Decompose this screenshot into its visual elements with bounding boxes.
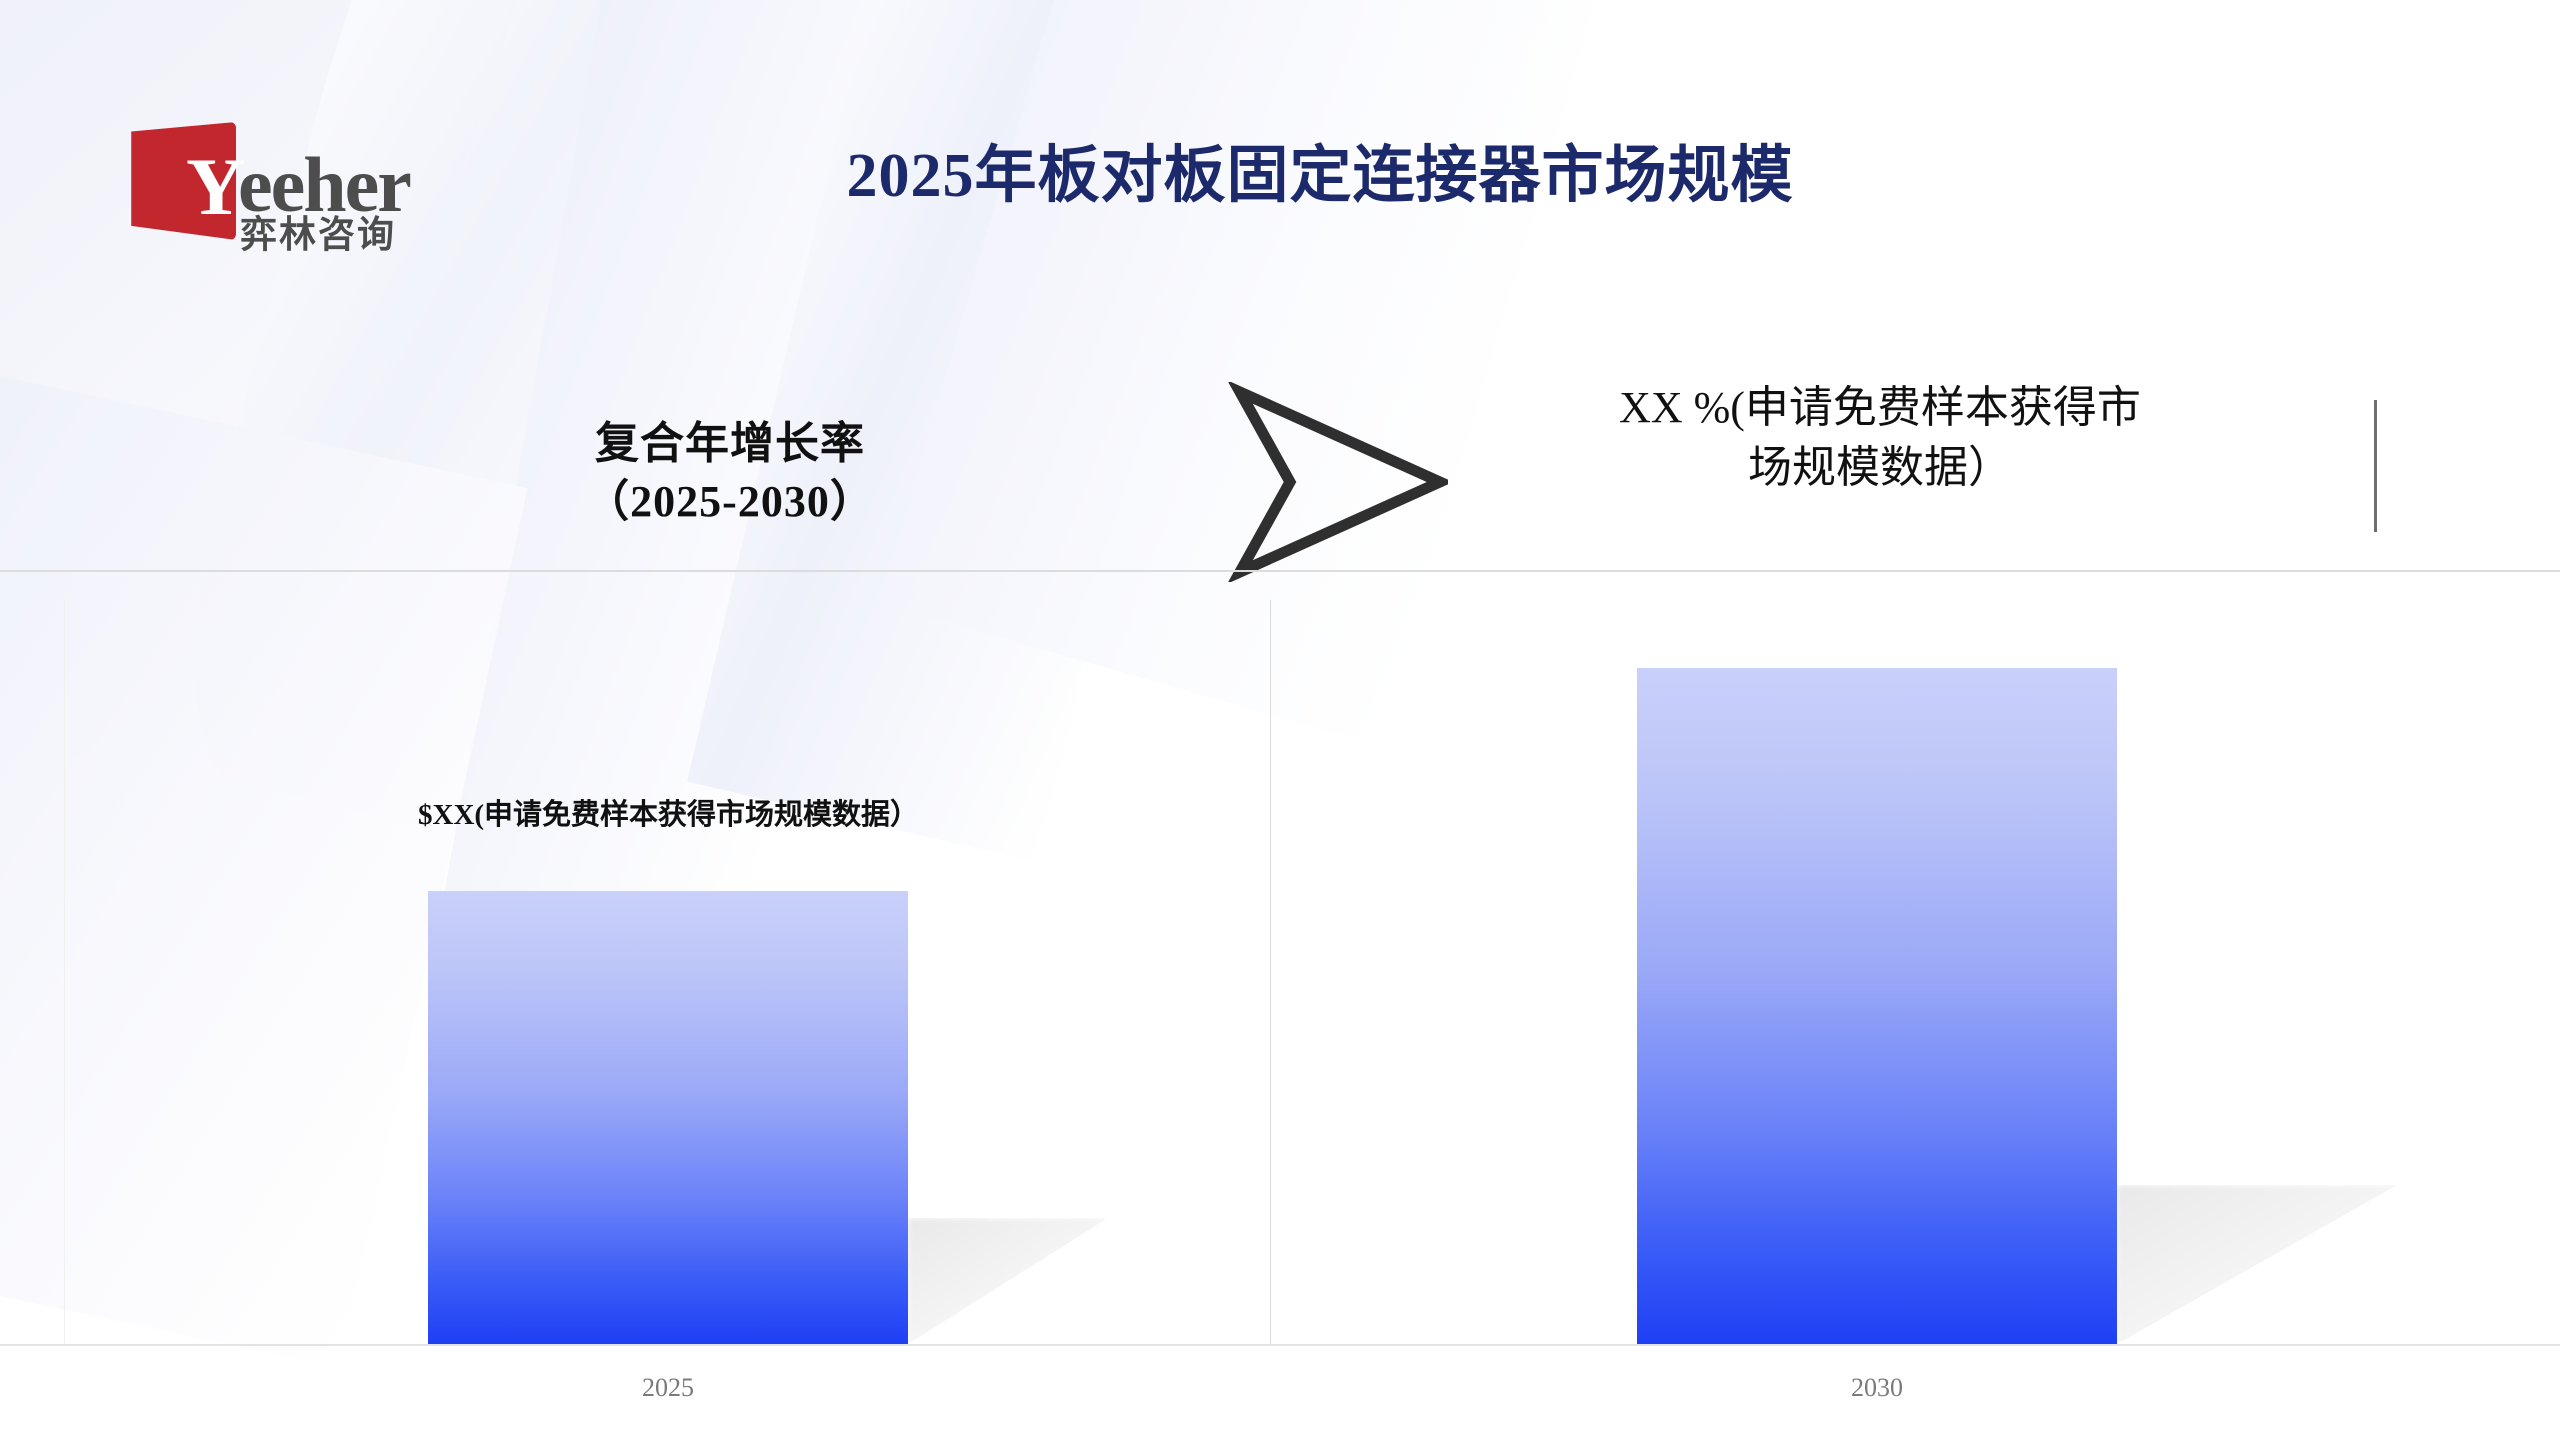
- chart-panel-divider: [1270, 600, 1271, 1345]
- x-axis-tick-2030: 2030: [1787, 1372, 1967, 1404]
- vertical-separator: [2374, 400, 2377, 532]
- bar-shadow: [2117, 1185, 2397, 1344]
- logo-letter-y: Y: [186, 146, 245, 228]
- bar-2030[interactable]: [1637, 668, 2117, 1344]
- brand-logo: Y eeher 弈林咨询: [128, 122, 468, 242]
- chart-baseline: [0, 1344, 2560, 1346]
- x-axis-tick-2025: 2025: [578, 1372, 758, 1404]
- page-title: 2025年板对板固定连接器市场规模: [640, 140, 2000, 212]
- chart-panel-left-border: [64, 600, 65, 1345]
- ribbon-shape-5: [881, 0, 1739, 746]
- cagr-label-text: 复合年增长率: [595, 419, 865, 468]
- bar-shadow: [908, 1218, 1108, 1344]
- arrow-right-icon: [1228, 382, 1448, 582]
- bar-data-label-2025: $XX(申请免费样本获得市场规模数据）: [418, 795, 918, 835]
- bar-2025[interactable]: [428, 891, 908, 1344]
- cagr-period-text: （2025-2030）: [480, 473, 980, 531]
- logo-name-cn: 弈林咨询: [240, 216, 396, 253]
- chart-top-divider: [0, 570, 2560, 572]
- slide-canvas: Y eeher 弈林咨询 2025年板对板固定连接器市场规模 复合年增长率 （2…: [0, 0, 2560, 1440]
- cagr-label: 复合年增长率 （2025-2030）: [480, 415, 980, 531]
- cagr-value: XX %(申请免费样本获得市场规模数据）: [1600, 378, 2160, 498]
